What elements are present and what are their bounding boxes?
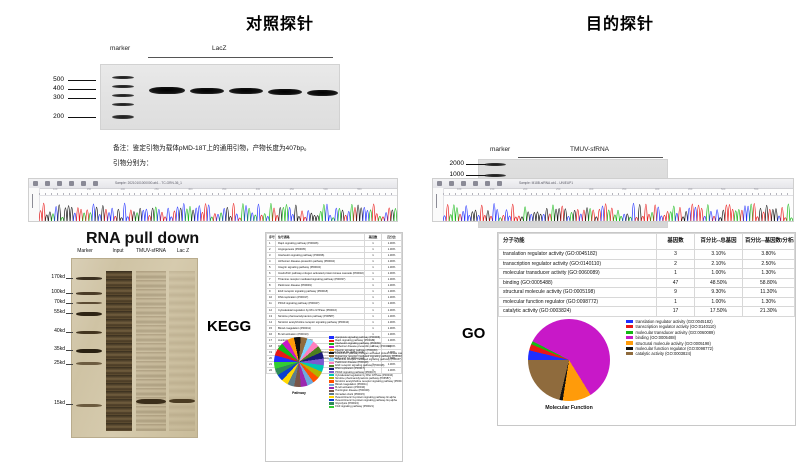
rna-pull-down-panel: Marker Input TMUV-sfRNA Lac Z 170kd 100k… bbox=[45, 248, 215, 443]
legend-swatch bbox=[329, 377, 334, 379]
table-cell: molecular transducer activity (GO:006008… bbox=[499, 269, 657, 279]
target-gel-mw-tick bbox=[466, 175, 486, 177]
pd-lane-marker: Marker bbox=[72, 248, 98, 254]
table-cell: 2 bbox=[657, 259, 695, 269]
legend-swatch bbox=[329, 406, 334, 408]
table-cell: 11.30% bbox=[743, 288, 795, 298]
legend-swatch bbox=[329, 343, 334, 345]
pd-lane-tmuv-sfrna: TMUV-sfRNA bbox=[133, 248, 169, 254]
legend-swatch bbox=[329, 387, 334, 389]
legend-swatch bbox=[329, 362, 334, 364]
kegg-pie-caption: Pathway bbox=[274, 391, 324, 395]
go-col-pct-analyzed: 百分比--基因数/分析基因 bbox=[743, 234, 795, 250]
kegg-pie-chart bbox=[274, 337, 324, 387]
ruler-tick-label: 200 bbox=[121, 188, 125, 191]
table-row: structural molecule activity (GO:0005198… bbox=[499, 288, 795, 298]
find-icon[interactable] bbox=[497, 181, 502, 186]
legend-swatch bbox=[329, 399, 334, 401]
ruler-tick-label: 300 bbox=[589, 188, 593, 191]
table-cell: 1 bbox=[657, 297, 695, 307]
legend-swatch bbox=[626, 331, 633, 334]
legend-item: catalytic activity (GO:0003824) bbox=[626, 351, 791, 356]
table-cell: 1.00% bbox=[695, 297, 743, 307]
table-cell: translation regulator activity (GO:00451… bbox=[499, 250, 657, 260]
legend-swatch bbox=[329, 368, 334, 370]
table-cell: 1 bbox=[657, 269, 695, 279]
table-row: molecular transducer activity (GO:006008… bbox=[499, 269, 795, 279]
control-gel-sample-band bbox=[307, 90, 338, 96]
ruler-tick-label: 550 bbox=[357, 188, 361, 191]
control-gel-ladder-band bbox=[112, 76, 134, 79]
legend-swatch bbox=[329, 355, 334, 357]
table-cell: 47 bbox=[657, 278, 695, 288]
chromatogram-left-trace bbox=[39, 195, 397, 221]
legend-item: molecular function regulator (GO:0098772… bbox=[626, 346, 791, 351]
ruler-tick-label: 450 bbox=[290, 188, 294, 191]
target-gel-group-underline bbox=[518, 157, 663, 158]
pd-lacz-band bbox=[169, 399, 195, 403]
ruler-tick-label: 500 bbox=[323, 188, 327, 191]
ruler-tick-label: 350 bbox=[622, 188, 626, 191]
kegg-col-genes: 基因数 bbox=[365, 234, 382, 241]
table-cell: binding (GO:0005488) bbox=[499, 278, 657, 288]
control-gel-sample-band bbox=[149, 87, 185, 95]
pd-marker-band bbox=[76, 404, 102, 407]
control-gel-group-label: LacZ bbox=[212, 45, 226, 52]
ruler-tick-label: 350 bbox=[222, 188, 226, 191]
table-cell: catalytic activity (GO:0003824) bbox=[499, 307, 657, 317]
save-icon[interactable] bbox=[45, 181, 50, 186]
control-gel-group-underline bbox=[148, 57, 333, 58]
chromatogram-left-sample-label: Sample: 20210101000000.ab1 - TC-GRN-36_1 bbox=[115, 181, 182, 185]
legend-swatch bbox=[329, 371, 334, 373]
kegg-col-index: 序号 bbox=[267, 234, 276, 241]
open-icon[interactable] bbox=[33, 181, 38, 186]
pd-mw-tick bbox=[66, 293, 73, 294]
ruler-tick-label: 450 bbox=[688, 188, 692, 191]
target-gel-marker-label: marker bbox=[490, 146, 510, 153]
legend-swatch bbox=[626, 325, 633, 328]
legend-swatch bbox=[329, 346, 334, 348]
go-pie-caption: Molecular Function bbox=[520, 405, 618, 411]
control-probe-note-line1: 备注：鉴定引物为载体pMD-18T上的通用引物，产物长度为407bp。 bbox=[113, 142, 310, 152]
table-cell: 2.50% bbox=[743, 259, 795, 269]
pd-mw-tick bbox=[66, 332, 73, 333]
legend-item: binding (GO:0005488) bbox=[626, 335, 791, 340]
control-gel-sample-band bbox=[268, 89, 302, 95]
control-probe-note-line2: 引物分别为： bbox=[113, 157, 153, 167]
table-cell: 21.30% bbox=[743, 307, 795, 317]
pd-marker-band bbox=[76, 292, 102, 295]
chromatogram-right-scale bbox=[436, 194, 437, 208]
pd-input-lane-smear bbox=[106, 271, 132, 431]
ruler-tick-label: 400 bbox=[655, 188, 659, 191]
control-gel-mw-tick bbox=[68, 80, 96, 82]
go-col-genes: 基因数 bbox=[657, 234, 695, 250]
legend-swatch bbox=[626, 320, 633, 323]
legend-swatch bbox=[329, 393, 334, 395]
pd-marker-band bbox=[76, 331, 102, 334]
ruler-tick-label: 550 bbox=[754, 188, 758, 191]
pd-mw-tick bbox=[66, 278, 73, 279]
control-gel-mw-tick bbox=[68, 98, 96, 100]
table-cell: 3 bbox=[657, 250, 695, 260]
kegg-legend: Apoptosis signaling pathway (P00006)Rap1… bbox=[329, 336, 401, 408]
ruler-tick-label: 100 bbox=[457, 188, 461, 191]
control-gel-sample-band bbox=[190, 88, 224, 95]
legend-label: catalytic activity (GO:0003824) bbox=[636, 351, 692, 356]
chromatogram-left[interactable]: Sample: 20210101000000.ab1 - TC-GRN-36_1… bbox=[28, 178, 398, 222]
go-table-body: translation regulator activity (GO:00451… bbox=[499, 250, 795, 317]
next-icon[interactable] bbox=[81, 181, 86, 186]
legend-swatch bbox=[329, 380, 334, 382]
legend-label: FGF signaling pathway (P00021) bbox=[335, 405, 374, 408]
go-pie-chart bbox=[528, 319, 610, 401]
table-row: translation regulator activity (GO:00451… bbox=[499, 250, 795, 260]
rna-pull-down-title: RNA pull down bbox=[86, 230, 199, 248]
table-cell: 17.50% bbox=[695, 307, 743, 317]
target-gel-mw-tick bbox=[466, 164, 486, 166]
legend-swatch bbox=[329, 365, 334, 367]
chromatogram-right[interactable]: Sample: M18B-sfRNA.ab1 - UNIEUP1 1001502… bbox=[432, 178, 794, 222]
open-icon[interactable] bbox=[437, 181, 442, 186]
ruler-tick-label: 150 bbox=[87, 188, 91, 191]
legend-swatch bbox=[329, 396, 334, 398]
table-row: catalytic activity (GO:0003824)1717.50%2… bbox=[499, 307, 795, 317]
target-probe-title: 目的探针 bbox=[530, 10, 710, 34]
table-cell: 17 bbox=[657, 307, 695, 317]
legend-swatch bbox=[329, 352, 334, 354]
legend-item: transcription regulator activity (GO:014… bbox=[626, 324, 791, 329]
target-probe-title-wrap: 目的探针 bbox=[530, 10, 710, 34]
control-probe-gel-panel: marker LacZ 500 400 300 200 bbox=[30, 44, 380, 134]
ruler-tick-label: 400 bbox=[256, 188, 260, 191]
pd-marker-band bbox=[76, 349, 102, 353]
go-col-function: 分子功能 bbox=[499, 234, 657, 250]
table-cell: molecular function regulator (GO:0098772… bbox=[499, 297, 657, 307]
pd-mw-100kd: 100kd bbox=[41, 289, 65, 295]
table-row: molecular function regulator (GO:0098772… bbox=[499, 297, 795, 307]
table-cell: structural molecule activity (GO:0005198… bbox=[499, 288, 657, 298]
print-icon[interactable] bbox=[69, 181, 74, 186]
go-panel: 分子功能 基因数 百分比--总基因 百分比--基因数/分析基因 translat… bbox=[497, 232, 796, 426]
control-gel-ladder-band bbox=[112, 103, 134, 106]
go-label: GO bbox=[462, 325, 485, 342]
target-gel-ladder-band bbox=[484, 174, 506, 177]
save-icon[interactable] bbox=[449, 181, 454, 186]
legend-swatch bbox=[329, 402, 334, 404]
target-gel-group-label: TMUV-sfRNA bbox=[570, 146, 609, 153]
control-probe-title: 对照探针 bbox=[190, 10, 370, 34]
control-gel-ladder-band bbox=[112, 85, 134, 88]
legend-swatch bbox=[626, 347, 633, 350]
legend-item: FGF signaling pathway (P00021) bbox=[329, 405, 401, 408]
table-row: binding (GO:0005488)4748.50%58.80% bbox=[499, 278, 795, 288]
go-legend: translation regulator activity (GO:00451… bbox=[626, 319, 791, 357]
control-gel-sample-band bbox=[229, 88, 263, 94]
go-table-header-row: 分子功能 基因数 百分比--总基因 百分比--基因数/分析基因 bbox=[499, 234, 795, 250]
chromatogram-right-trace bbox=[443, 195, 793, 221]
table-cell: 58.80% bbox=[743, 278, 795, 288]
kegg-col-percent: 百分比 bbox=[382, 234, 402, 241]
kegg-label: KEGG bbox=[207, 318, 251, 335]
pd-mw-35kd: 35kd bbox=[41, 346, 65, 352]
pd-mw-tick bbox=[66, 404, 73, 405]
target-gel-mw-1000: 1000 bbox=[440, 171, 464, 178]
pd-mw-40kd: 40kd bbox=[41, 328, 65, 334]
control-gel-marker-label: marker bbox=[110, 45, 130, 52]
table-cell: 1.00% bbox=[695, 269, 743, 279]
legend-label: transcription regulator activity (GO:014… bbox=[636, 324, 716, 329]
ruler-tick-label: 300 bbox=[188, 188, 192, 191]
pd-mw-tick bbox=[66, 350, 73, 351]
control-gel-mw-200: 200 bbox=[38, 113, 64, 120]
pd-tmuv-band bbox=[136, 399, 166, 404]
pd-tmuv-lane-smear bbox=[136, 271, 166, 431]
table-cell: 1.30% bbox=[743, 297, 795, 307]
legend-item: translation regulator activity (GO:00451… bbox=[626, 319, 791, 324]
legend-swatch bbox=[329, 336, 334, 338]
pd-mw-tick bbox=[66, 313, 73, 314]
legend-swatch bbox=[626, 352, 633, 355]
control-gel-image bbox=[100, 64, 340, 130]
export-icon[interactable] bbox=[461, 181, 466, 186]
pd-marker-band bbox=[76, 312, 102, 316]
control-gel-mw-300: 300 bbox=[38, 94, 64, 101]
table-cell: 9 bbox=[657, 288, 695, 298]
chromatogram-left-scale bbox=[32, 194, 33, 208]
legend-swatch bbox=[329, 390, 334, 392]
pd-mw-tick bbox=[66, 364, 73, 365]
next-icon[interactable] bbox=[485, 181, 490, 186]
control-gel-mw-tick bbox=[68, 89, 96, 91]
control-gel-ladder-band bbox=[112, 115, 134, 119]
ruler-tick-label: 500 bbox=[721, 188, 725, 191]
table-cell: 48.50% bbox=[695, 278, 743, 288]
pd-mw-55kd: 55kd bbox=[41, 309, 65, 315]
table-cell: 3.10% bbox=[695, 250, 743, 260]
pd-marker-band bbox=[76, 362, 102, 365]
chromatogram-left-trace-svg bbox=[39, 195, 397, 221]
table-cell: transcription regulator activity (GO:014… bbox=[499, 259, 657, 269]
export-icon[interactable] bbox=[57, 181, 62, 186]
table-cell: 2.10% bbox=[695, 259, 743, 269]
legend-label: molecular function regulator (GO:0098772… bbox=[636, 346, 714, 351]
rna-pull-down-gel-image bbox=[71, 258, 198, 438]
chromatogram-right-sample-label: Sample: M18B-sfRNA.ab1 - UNIEUP1 bbox=[519, 181, 573, 185]
legend-item: molecular transducer activity (GO:006008… bbox=[626, 330, 791, 335]
legend-swatch bbox=[329, 358, 334, 360]
find-icon[interactable] bbox=[93, 181, 98, 186]
target-gel-ladder-band bbox=[484, 163, 506, 166]
legend-label: binding (GO:0005488) bbox=[636, 335, 677, 340]
table-row: transcription regulator activity (GO:014… bbox=[499, 259, 795, 269]
table-cell: 9.30% bbox=[695, 288, 743, 298]
legend-swatch bbox=[329, 374, 334, 376]
go-table: 分子功能 基因数 百分比--总基因 百分比--基因数/分析基因 translat… bbox=[498, 233, 795, 317]
table-cell: 1.30% bbox=[743, 269, 795, 279]
pd-mw-170kd: 170kd bbox=[41, 274, 65, 280]
pd-lane-input: Input bbox=[107, 248, 129, 254]
kegg-panel: 序号 信号通路 基因数 百分比 1Rap1 signaling pathway … bbox=[265, 232, 403, 462]
chromatogram-right-trace-svg bbox=[443, 195, 793, 221]
pd-marker-band bbox=[76, 277, 102, 280]
control-gel-mw-tick bbox=[68, 117, 96, 119]
table-cell: 3.80% bbox=[743, 250, 795, 260]
ruler-tick-label: 250 bbox=[154, 188, 158, 191]
control-gel-mw-400: 400 bbox=[38, 85, 64, 92]
kegg-table-header-row: 序号 信号通路 基因数 百分比 bbox=[267, 234, 402, 241]
legend-swatch bbox=[626, 341, 633, 344]
control-gel-mw-500: 500 bbox=[38, 76, 64, 83]
ruler-tick-label: 100 bbox=[53, 188, 57, 191]
control-gel-ladder-band bbox=[112, 94, 134, 97]
kegg-col-pathway: 信号通路 bbox=[276, 234, 365, 241]
pd-marker-band bbox=[76, 302, 102, 304]
control-probe-title-wrap: 对照探针 bbox=[190, 10, 370, 34]
legend-label: structural molecule activity (GO:0005198… bbox=[636, 341, 711, 346]
pd-lane-lacz: Lac Z bbox=[172, 248, 194, 254]
pd-lacz-lane-smear bbox=[169, 271, 195, 431]
pd-mw-25kd: 25kd bbox=[41, 360, 65, 366]
pd-mw-15kd: 15kd bbox=[41, 400, 65, 406]
legend-item: structural molecule activity (GO:0005198… bbox=[626, 341, 791, 346]
legend-swatch bbox=[329, 349, 334, 351]
ruler-tick-label: 150 bbox=[490, 188, 494, 191]
ruler-tick-label: 250 bbox=[556, 188, 560, 191]
target-gel-mw-2000: 2000 bbox=[440, 160, 464, 167]
legend-swatch bbox=[626, 336, 633, 339]
legend-swatch bbox=[329, 340, 334, 342]
pd-mw-70kd: 70kd bbox=[41, 299, 65, 305]
legend-label: molecular transducer activity (GO:006008… bbox=[636, 330, 715, 335]
legend-label: translation regulator activity (GO:00451… bbox=[636, 319, 713, 324]
ruler-tick-label: 200 bbox=[523, 188, 527, 191]
print-icon[interactable] bbox=[473, 181, 478, 186]
legend-swatch bbox=[329, 384, 334, 386]
go-col-pct-total: 百分比--总基因 bbox=[695, 234, 743, 250]
pd-mw-tick bbox=[66, 303, 73, 304]
